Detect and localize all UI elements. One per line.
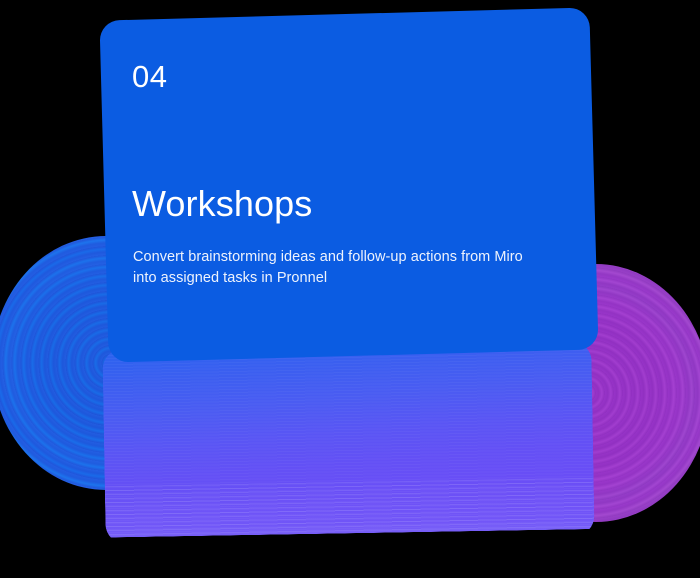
scanline-texture [102,341,594,545]
slide-description: Convert brainstorming ideas and follow-u… [133,247,533,290]
streak-texture [105,478,595,545]
slide-number: 04 [132,61,167,92]
workshops-card-content: 04 Workshops Convert brainstorming ideas… [104,14,594,356]
card-bottom-edge [106,533,595,545]
secondary-gradient-card [102,341,594,545]
slide-stage: 04 Workshops Convert brainstorming ideas… [0,0,700,578]
workshops-card[interactable]: 04 Workshops Convert brainstorming ideas… [99,7,598,362]
slide-title: Workshops [132,184,312,224]
